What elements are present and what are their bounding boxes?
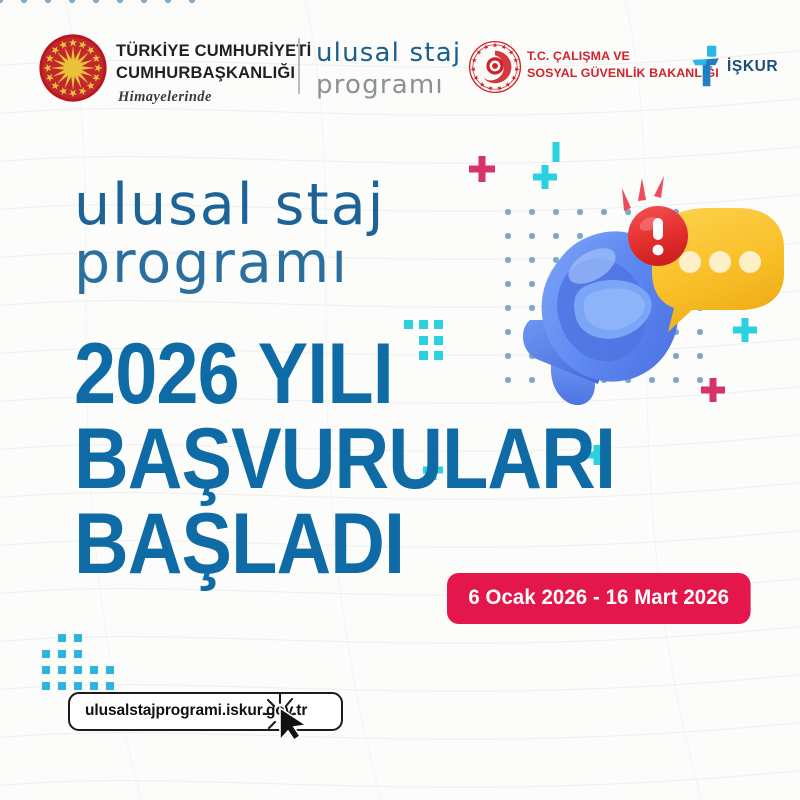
program-logo: ulusal staj programı	[316, 40, 461, 98]
ministry-seal-icon	[468, 40, 522, 94]
headline-line2: BAŞVURULARI	[74, 417, 615, 502]
poster-canvas: TÜRKİYE CUMHURİYETİ CUMHURBAŞKANLIĞI Him…	[0, 0, 800, 800]
turkish-presidency-seal-icon	[38, 33, 108, 103]
program-title-line2: programı	[74, 236, 385, 292]
patronage-label: Himayelerinde	[118, 89, 212, 106]
headline-line1: 2026 YILI	[74, 332, 615, 417]
click-cursor-icon	[262, 690, 322, 742]
presidency-line2: CUMHURBAŞKANLIĞI	[116, 63, 311, 85]
program-title-line1: ulusal staj	[74, 178, 385, 234]
iskur-figure-icon	[690, 44, 724, 88]
header-logo-bar: TÜRKİYE CUMHURİYETİ CUMHURBAŞKANLIĞI Him…	[0, 0, 800, 125]
logo-divider	[298, 38, 300, 94]
iskur-label: İŞKUR	[727, 58, 778, 76]
presidency-line1: TÜRKİYE CUMHURİYETİ	[116, 41, 311, 63]
date-badge: 6 Ocak 2026 - 16 Mart 2026	[447, 573, 750, 624]
program-title-block: ulusal staj programı	[74, 178, 385, 292]
presidency-title: TÜRKİYE CUMHURİYETİ CUMHURBAŞKANLIĞI	[116, 41, 311, 85]
program-logo-line2: programı	[316, 72, 461, 98]
program-logo-line1: ulusal staj	[316, 40, 461, 66]
headline-block: 2026 YILI BAŞVURULARI BAŞLADI	[74, 332, 689, 587]
